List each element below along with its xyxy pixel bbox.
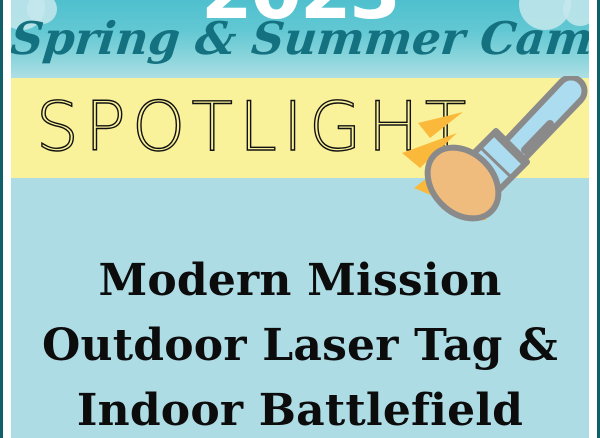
program-headline: Modern Mission Outdoor Laser Tag & Indoo… [11, 248, 589, 438]
headline-line-1: Modern Mission [11, 248, 589, 313]
poster-card: 2023 Spring & Summer Camp SPOTLIGHT Mode… [11, 0, 589, 438]
spotlight-word: SPOTLIGHT [11, 94, 589, 162]
spotlight-band: SPOTLIGHT [11, 78, 589, 178]
headline-line-3: Indoor Battlefield [11, 378, 589, 438]
camp-spotlight-poster: 2023 Spring & Summer Camp SPOTLIGHT Mode… [0, 0, 600, 438]
frame-rule-left [0, 0, 3, 438]
body-area: Modern Mission Outdoor Laser Tag & Indoo… [11, 178, 589, 438]
headline-line-2: Outdoor Laser Tag & [11, 313, 589, 378]
camp-season-title: Spring & Summer Camp [11, 16, 589, 61]
header-banner: 2023 Spring & Summer Camp [11, 0, 589, 78]
